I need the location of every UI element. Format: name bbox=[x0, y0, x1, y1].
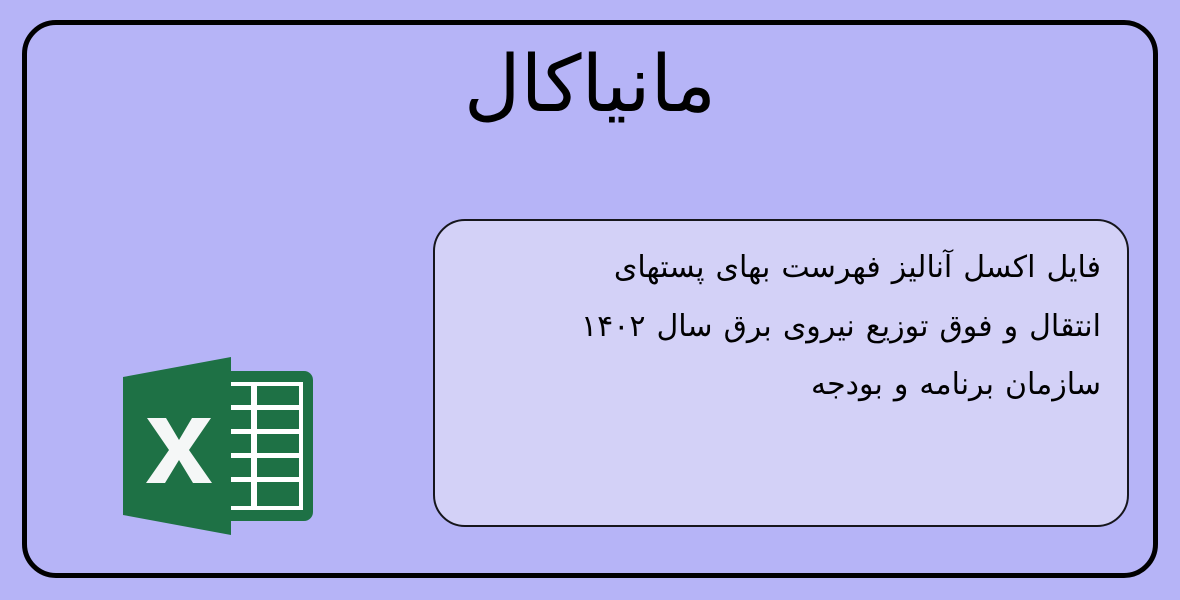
description-line-2: انتقال و فوق توزیع نیروی برق سال ۱۴۰۲ bbox=[461, 298, 1101, 357]
description-panel: فایل اکسل آنالیز فهرست بهای پستهای انتقا… bbox=[433, 219, 1129, 527]
page-title: مانیاکال bbox=[27, 33, 1153, 138]
description-line-3: سازمان برنامه و بودجه bbox=[461, 356, 1101, 415]
description-line-1: فایل اکسل آنالیز فهرست بهای پستهای bbox=[461, 239, 1101, 298]
excel-file-icon[interactable] bbox=[113, 355, 323, 537]
outer-card-frame: مانیاکال bbox=[22, 20, 1158, 578]
